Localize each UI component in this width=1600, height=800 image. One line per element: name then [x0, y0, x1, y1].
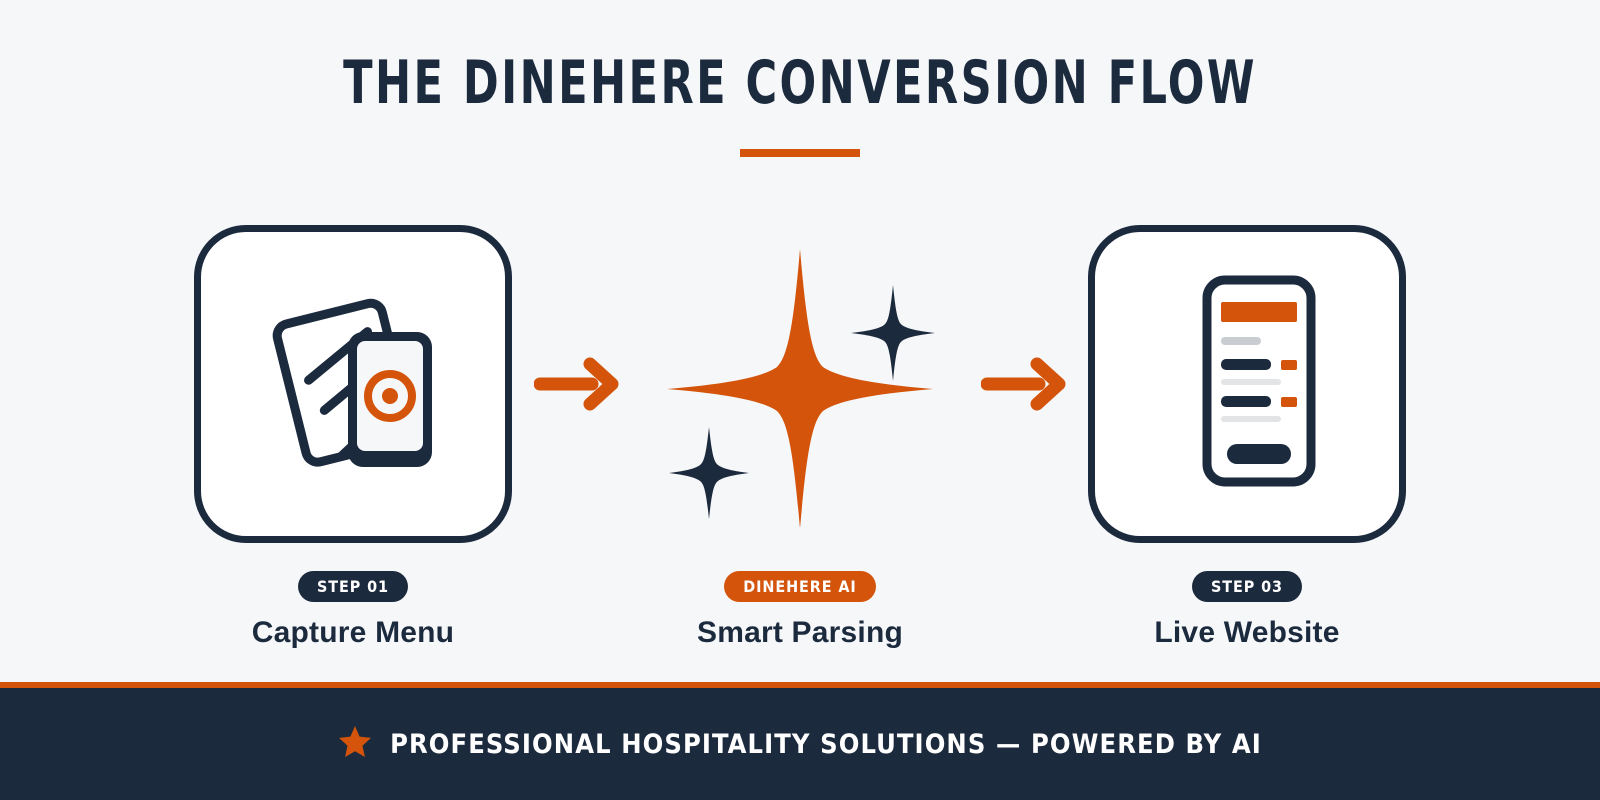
footer-bar: PROFESSIONAL HOSPITALITY SOLUTIONS — POW… [0, 682, 1600, 800]
arrow-right-icon [981, 356, 1067, 412]
flow-connector-1 [516, 225, 638, 543]
flow-connector-2 [963, 225, 1085, 543]
mobile-website-icon [1147, 274, 1347, 494]
menu-photo-capture-icon [248, 277, 458, 492]
star-icon [338, 725, 372, 764]
flow-step-smart-parsing: DINEHERE AI Smart Parsing [638, 225, 963, 650]
ai-sparkle-icon [655, 237, 945, 532]
arrow-right-icon [534, 356, 620, 412]
footer-tagline: PROFESSIONAL HOSPITALITY SOLUTIONS — POW… [390, 729, 1262, 760]
step-card-capture-menu [194, 225, 512, 543]
flow-step-capture-menu: STEP 01 Capture Menu [191, 225, 516, 650]
step-badge: STEP 03 [1192, 571, 1302, 602]
infographic-canvas: THE DINEHERE CONVERSION FLOW [0, 0, 1600, 800]
conversion-flow: STEP 01 Capture Menu [0, 225, 1600, 650]
step-label: Live Website [1154, 616, 1339, 650]
step-card-smart-parsing [641, 225, 959, 543]
step-badge: STEP 01 [298, 571, 408, 602]
step-card-live-website [1088, 225, 1406, 543]
flow-step-live-website: STEP 03 Live Website [1085, 225, 1410, 650]
step-label: Smart Parsing [697, 616, 903, 650]
header: THE DINEHERE CONVERSION FLOW [0, 52, 1600, 157]
page-title: THE DINEHERE CONVERSION FLOW [160, 52, 1440, 115]
step-badge: DINEHERE AI [724, 571, 875, 602]
step-label: Capture Menu [252, 616, 454, 650]
title-accent-bar [740, 149, 860, 157]
